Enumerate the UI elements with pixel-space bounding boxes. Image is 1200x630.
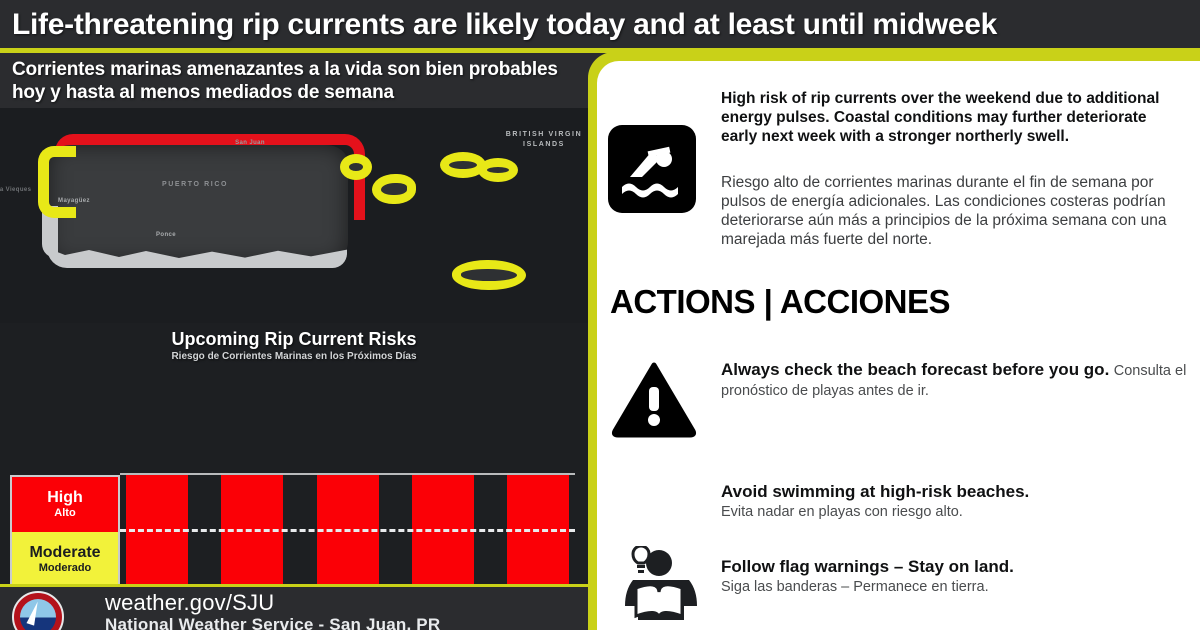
summary-text-spanish: Riesgo alto de corrientes marinas durant… (721, 173, 1183, 249)
action-2-text-es: Evita nadar en playas con riesgo alto. (721, 502, 1187, 522)
legend-item-moderate: Moderate Moderado (12, 532, 118, 586)
risk-map: PUERTO RICO BRITISH VIRGIN ISLANDS San J… (0, 108, 588, 323)
headline-spanish: Corrientes marinas amenazantes a la vida… (12, 58, 592, 104)
legend-high-label-es: Alto (54, 507, 75, 520)
person-reading-idea-icon (611, 546, 697, 626)
action-3-text-en: Follow flag warnings – Stay on land. (721, 557, 1014, 576)
footer-divider (0, 584, 588, 587)
legend-high-label-en: High (47, 489, 83, 507)
warning-triangle-icon (611, 359, 697, 439)
action-1-text-en: Always check the beach forecast before y… (721, 360, 1109, 379)
right-panel: High risk of rip currents over the weeke… (597, 61, 1200, 630)
infographic-root: Life-threatening rip currents are likely… (0, 0, 1200, 630)
actions-heading: ACTIONS | ACCIONES (610, 283, 950, 321)
chart-title: Upcoming Rip Current Risks (0, 329, 588, 350)
headline-english: Life-threatening rip currents are likely… (12, 8, 1192, 42)
chart-subtitle: Riesgo de Corrientes Marinas en los Próx… (0, 351, 588, 362)
map-high-risk-north-coast (55, 134, 365, 220)
footer-organization: National Weather Service - San Juan, PR (105, 615, 440, 630)
action-2-text: Avoid swimming at high-risk beaches. Evi… (721, 481, 1187, 522)
legend-moderate-label-es: Moderado (39, 562, 92, 575)
swimmer-icon (608, 125, 696, 213)
action-3-text: Follow flag warnings – Stay on land. Sig… (721, 556, 1187, 597)
action-2-text-en: Avoid swimming at high-risk beaches. (721, 482, 1029, 501)
map-moderate-risk-west-coast (38, 146, 76, 218)
map-island-st-john (478, 158, 518, 182)
action-1-text: Always check the beach forecast before y… (721, 359, 1187, 401)
chart-gridline-moderate (120, 529, 575, 532)
map-island-st-croix (452, 260, 526, 290)
footer-website-url[interactable]: weather.gov/SJU (105, 590, 274, 616)
left-column: PUERTO RICO BRITISH VIRGIN ISLANDS San J… (0, 108, 588, 630)
map-island-culebra (340, 154, 372, 180)
summary-text-english: High risk of rip currents over the weeke… (721, 89, 1181, 146)
action-3-text-es: Siga las banderas – Permanece en tierra. (721, 577, 1187, 597)
map-island-vieques (372, 174, 416, 204)
footer-bar: weather.gov/SJU National Weather Service… (0, 584, 588, 630)
legend-moderate-label-en: Moderate (29, 544, 100, 562)
legend-item-high: High Alto (12, 477, 118, 532)
nws-logo-icon (12, 591, 64, 630)
